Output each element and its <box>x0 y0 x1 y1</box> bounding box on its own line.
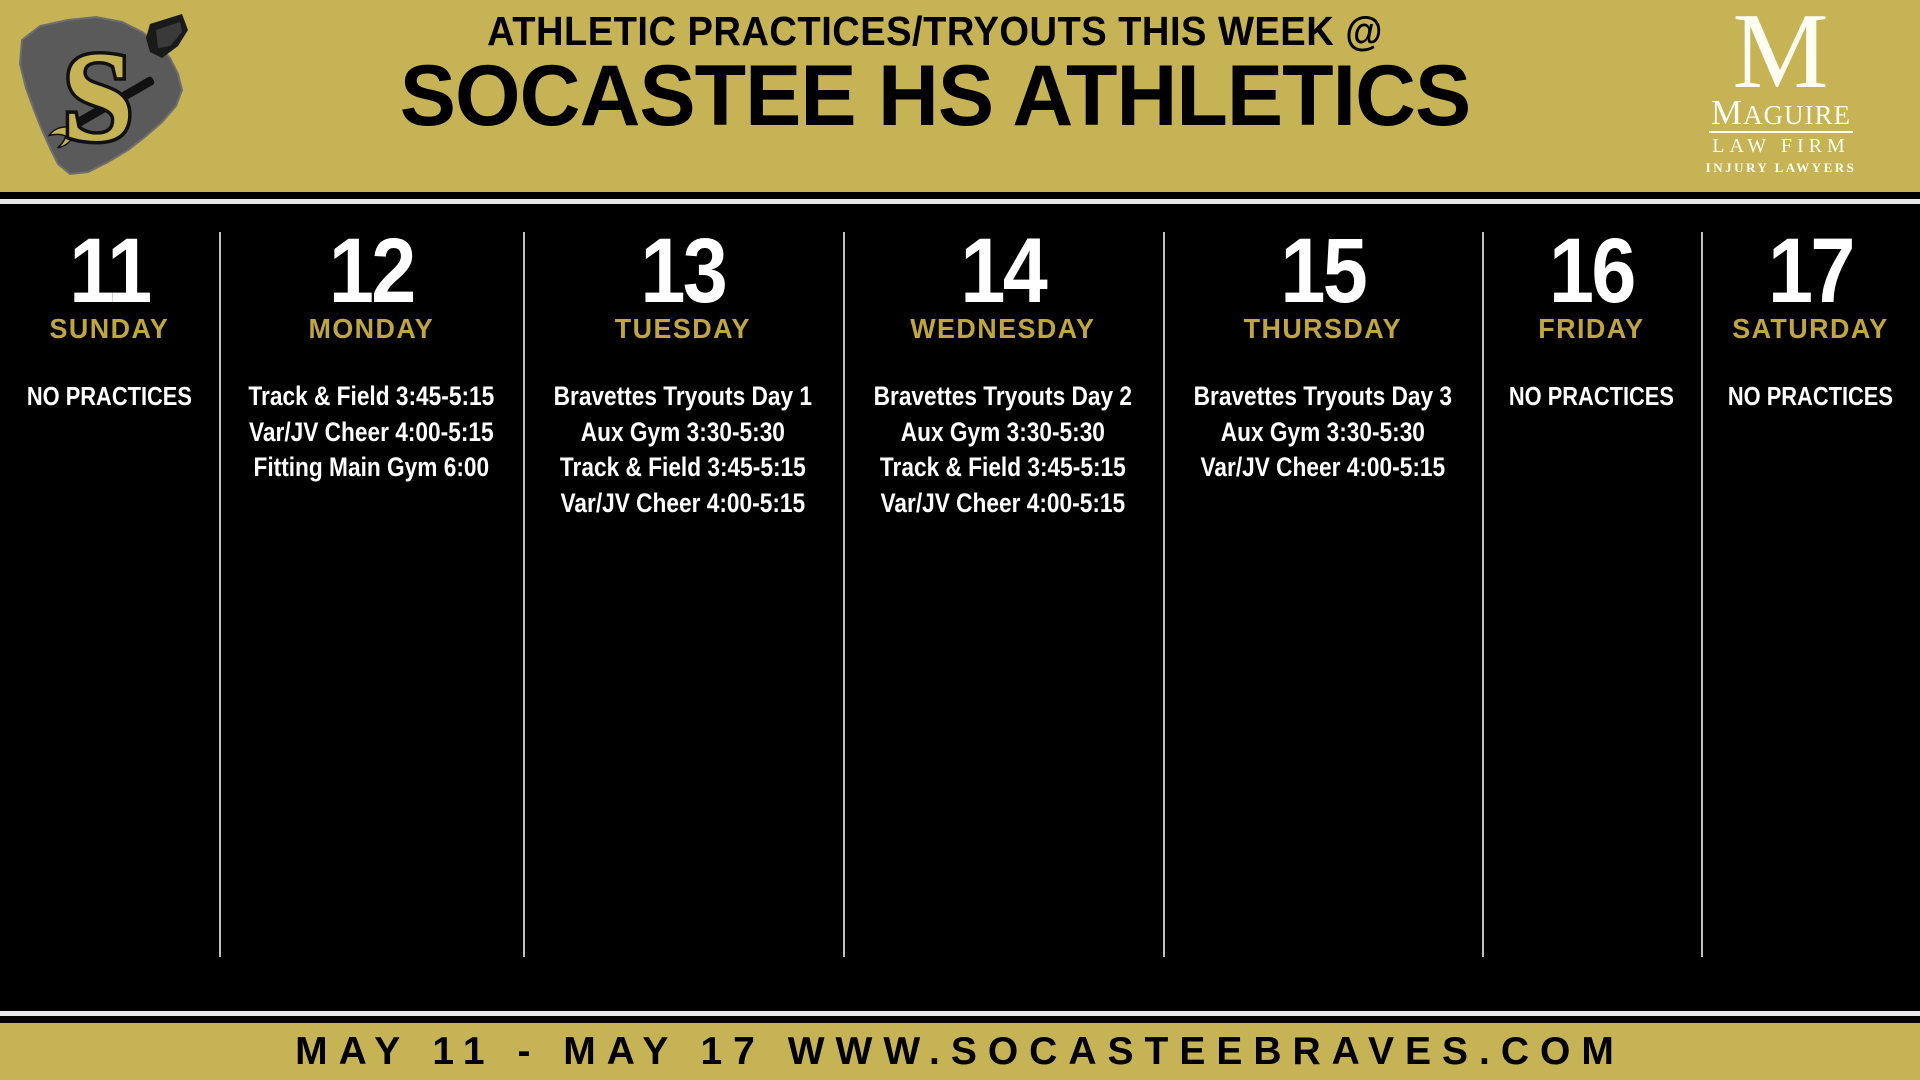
day-number: 15 <box>1182 232 1463 311</box>
event-item: Var/JV Cheer 4:00-5:15 <box>1193 450 1451 486</box>
no-practices-label: NO PRACTICES <box>23 379 197 413</box>
day-events: Track & Field 3:45-5:15Var/JV Cheer 4:00… <box>219 379 524 486</box>
svg-text:S: S <box>62 26 133 168</box>
footer-black-rule-top <box>0 1003 1920 1011</box>
event-item: Bravettes Tryouts Day 3 <box>1193 379 1451 415</box>
sponsor-name-rest: AGUIRE <box>1743 100 1851 130</box>
event-item: Aux Gym 3:30-5:30 <box>1193 415 1451 451</box>
header-black-rule <box>0 192 1920 199</box>
sponsor-monogram: M <box>1732 2 1829 101</box>
day-name: WEDNESDAY <box>849 313 1156 345</box>
day-name: FRIDAY <box>1487 313 1697 345</box>
day-column-saturday: 17SATURDAYNO PRACTICES <box>1701 204 1920 1003</box>
event-item: Aux Gym 3:30-5:30 <box>554 415 812 451</box>
event-item: Var/JV Cheer 4:00-5:15 <box>554 486 812 522</box>
day-number: 12 <box>237 232 505 311</box>
day-number: 11 <box>13 232 206 311</box>
poster-footer: MAY 11 - MAY 17 WWW.SOCASTEEBRAVES.COM <box>0 1023 1920 1080</box>
day-name: MONDAY <box>225 313 517 345</box>
event-item: Track & Field 3:45-5:15 <box>248 379 494 415</box>
no-practices-label: NO PRACTICES <box>1505 379 1679 413</box>
page-title-line2: SOCASTEE HS ATHLETICS <box>229 51 1640 141</box>
day-events: Bravettes Tryouts Day 2Aux Gym 3:30-5:30… <box>843 379 1163 522</box>
event-item: Fitting Main Gym 6:00 <box>248 450 494 486</box>
day-name: SATURDAY <box>1706 313 1916 345</box>
day-number: 17 <box>1714 232 1907 311</box>
event-item: Aux Gym 3:30-5:30 <box>874 415 1132 451</box>
day-events: NO PRACTICES <box>1482 379 1701 413</box>
no-practices-label: NO PRACTICES <box>1724 379 1898 413</box>
header-title-block: ATHLETIC PRACTICES/TRYOUTS THIS WEEK @ S… <box>215 10 1655 141</box>
weekly-schedule-poster: S ATHLETIC PRACTICES/TRYOUTS THIS WEEK @… <box>0 0 1920 1080</box>
day-column-thursday: 15THURSDAYBravettes Tryouts Day 3Aux Gym… <box>1163 204 1483 1003</box>
day-events: Bravettes Tryouts Day 1Aux Gym 3:30-5:30… <box>523 379 843 522</box>
day-number: 14 <box>862 232 1143 311</box>
sponsor-subtitle: LAW FIRM <box>1712 136 1849 156</box>
day-number: 13 <box>543 232 824 311</box>
event-item: Track & Field 3:45-5:15 <box>874 450 1132 486</box>
event-item: Var/JV Cheer 4:00-5:15 <box>874 486 1132 522</box>
day-events: Bravettes Tryouts Day 3Aux Gym 3:30-5:30… <box>1163 379 1483 486</box>
day-column-sunday: 11SUNDAYNO PRACTICES <box>0 204 219 1003</box>
page-title-line1: ATHLETIC PRACTICES/TRYOUTS THIS WEEK @ <box>265 10 1604 53</box>
day-column-wednesday: 14WEDNESDAYBravettes Tryouts Day 2Aux Gy… <box>843 204 1163 1003</box>
footer-text: MAY 11 - MAY 17 WWW.SOCASTEEBRAVES.COM <box>295 1030 1625 1074</box>
day-name: SUNDAY <box>4 313 214 345</box>
day-name: THURSDAY <box>1169 313 1476 345</box>
event-item: Bravettes Tryouts Day 1 <box>554 379 812 415</box>
week-grid: 11SUNDAYNO PRACTICES12MONDAYTrack & Fiel… <box>0 204 1920 1003</box>
sponsor-name: MAGUIRE <box>1709 95 1853 133</box>
maguire-law-firm-logo: M MAGUIRE LAW FIRM INJURY LAWYERS <box>1656 0 1906 190</box>
event-item: Var/JV Cheer 4:00-5:15 <box>248 415 494 451</box>
day-events: NO PRACTICES <box>1701 379 1920 413</box>
event-item: Track & Field 3:45-5:15 <box>554 450 812 486</box>
footer-black-rule-bottom <box>0 1016 1920 1023</box>
poster-header: S ATHLETIC PRACTICES/TRYOUTS THIS WEEK @… <box>0 0 1920 192</box>
sponsor-tagline: INJURY LAWYERS <box>1706 161 1857 174</box>
day-name: TUESDAY <box>530 313 837 345</box>
event-item: Bravettes Tryouts Day 2 <box>874 379 1132 415</box>
day-column-monday: 12MONDAYTrack & Field 3:45-5:15Var/JV Ch… <box>219 204 524 1003</box>
socastee-braves-logo: S <box>10 2 220 188</box>
sponsor-name-cap: M <box>1711 93 1743 132</box>
day-column-friday: 16FRIDAYNO PRACTICES <box>1482 204 1701 1003</box>
day-events: NO PRACTICES <box>0 379 219 413</box>
day-number: 16 <box>1496 232 1689 311</box>
day-column-tuesday: 13TUESDAYBravettes Tryouts Day 1Aux Gym … <box>523 204 843 1003</box>
